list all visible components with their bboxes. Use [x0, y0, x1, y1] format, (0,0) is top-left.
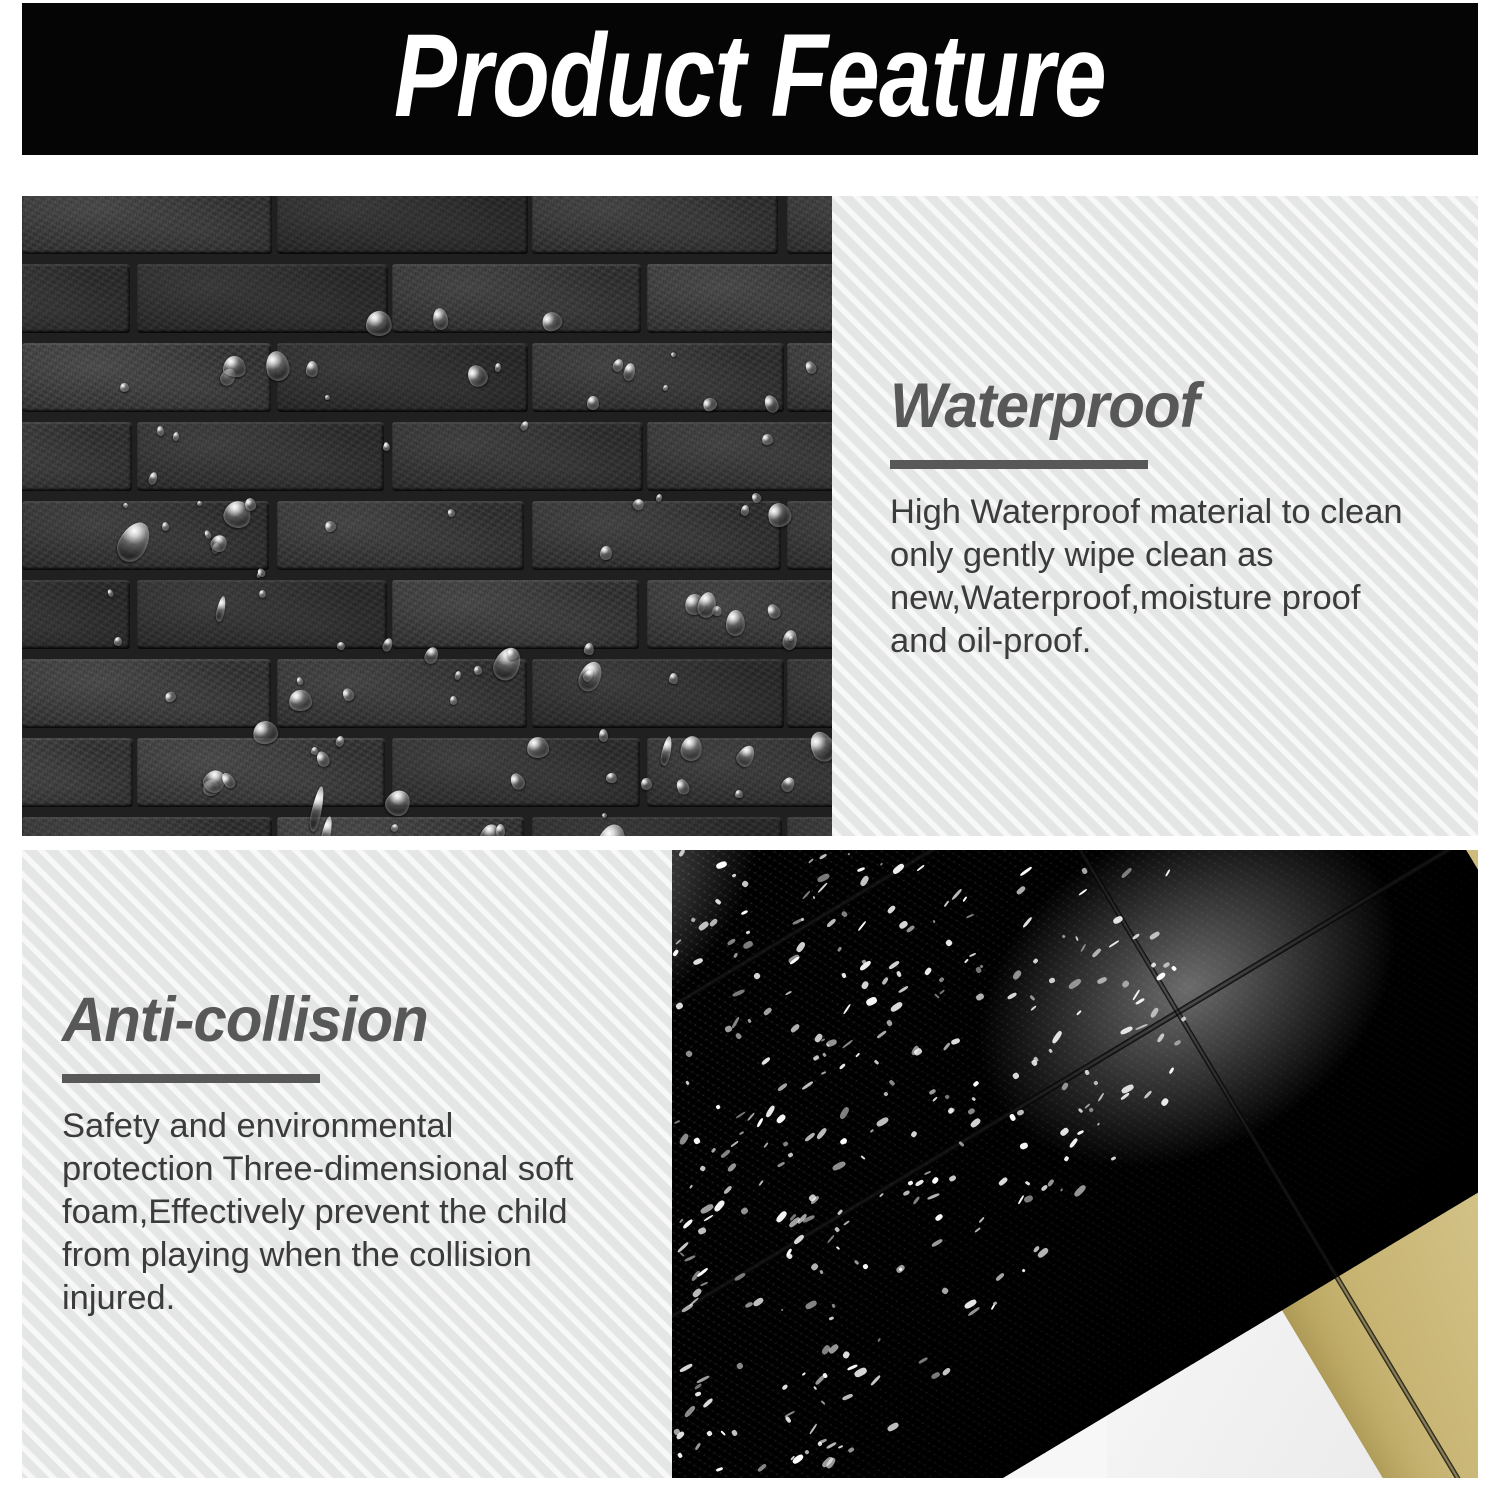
brick — [647, 422, 832, 491]
brick — [22, 264, 130, 333]
heading-divider-waterproof — [890, 460, 1148, 469]
anti-collision-text-area: Anti-collision Safety and environmental … — [22, 850, 672, 1478]
brick — [277, 501, 524, 570]
brick — [787, 659, 832, 728]
brick — [392, 580, 639, 649]
brick-row — [22, 196, 832, 261]
brick-row — [22, 735, 832, 814]
waterproof-product-image — [22, 196, 832, 836]
brick — [22, 422, 132, 491]
feature-body-waterproof: High Waterproof material to clean only g… — [890, 491, 1403, 663]
feature-panel-waterproof: Waterproof High Waterproof material to c… — [22, 196, 1478, 836]
page-title: Product Feature — [394, 17, 1106, 141]
heading-divider-anti-collision — [62, 1074, 320, 1083]
anti-collision-product-image — [672, 850, 1478, 1478]
brick — [22, 817, 272, 836]
brick — [532, 196, 778, 254]
feature-block-anti-collision: Anti-collision Safety and environmental … — [62, 988, 573, 1320]
feature-panel-anti-collision: Anti-collision Safety and environmental … — [22, 850, 1478, 1478]
brick — [22, 659, 271, 728]
water-droplet — [119, 382, 129, 391]
foam-panel-closeup — [672, 850, 1478, 1478]
brick — [647, 264, 832, 333]
feature-body-anti-collision: Safety and environmental protection Thre… — [62, 1105, 573, 1320]
brick-row — [22, 261, 832, 340]
brick — [532, 817, 782, 836]
brick — [787, 817, 832, 836]
brick — [137, 264, 388, 333]
brick — [137, 738, 385, 807]
brick-row — [22, 656, 832, 735]
brick — [532, 659, 784, 728]
feature-block-waterproof: Waterproof High Waterproof material to c… — [890, 374, 1403, 663]
brick — [532, 343, 784, 412]
water-droplet — [156, 425, 164, 436]
water-droplet — [449, 696, 457, 705]
brick — [787, 501, 832, 570]
product-feature-infographic: Product Feature Waterproof High Waterpro… — [0, 0, 1500, 1500]
brick — [277, 343, 528, 412]
water-droplet — [196, 500, 202, 506]
brick — [787, 196, 832, 254]
brick — [392, 264, 641, 333]
feature-heading-anti-collision: Anti-collision — [62, 988, 548, 1054]
brick-row — [22, 814, 832, 836]
brick — [787, 343, 832, 412]
brick — [277, 196, 528, 254]
brick — [22, 738, 133, 807]
feature-heading-waterproof: Waterproof — [890, 374, 1377, 440]
brick — [392, 422, 643, 491]
brick — [22, 196, 272, 254]
waterproof-text-area: Waterproof High Waterproof material to c… — [832, 196, 1478, 836]
brick-wall-texture — [22, 196, 832, 836]
brick-row — [22, 419, 832, 498]
header-banner: Product Feature — [22, 3, 1478, 155]
brick — [277, 659, 527, 728]
